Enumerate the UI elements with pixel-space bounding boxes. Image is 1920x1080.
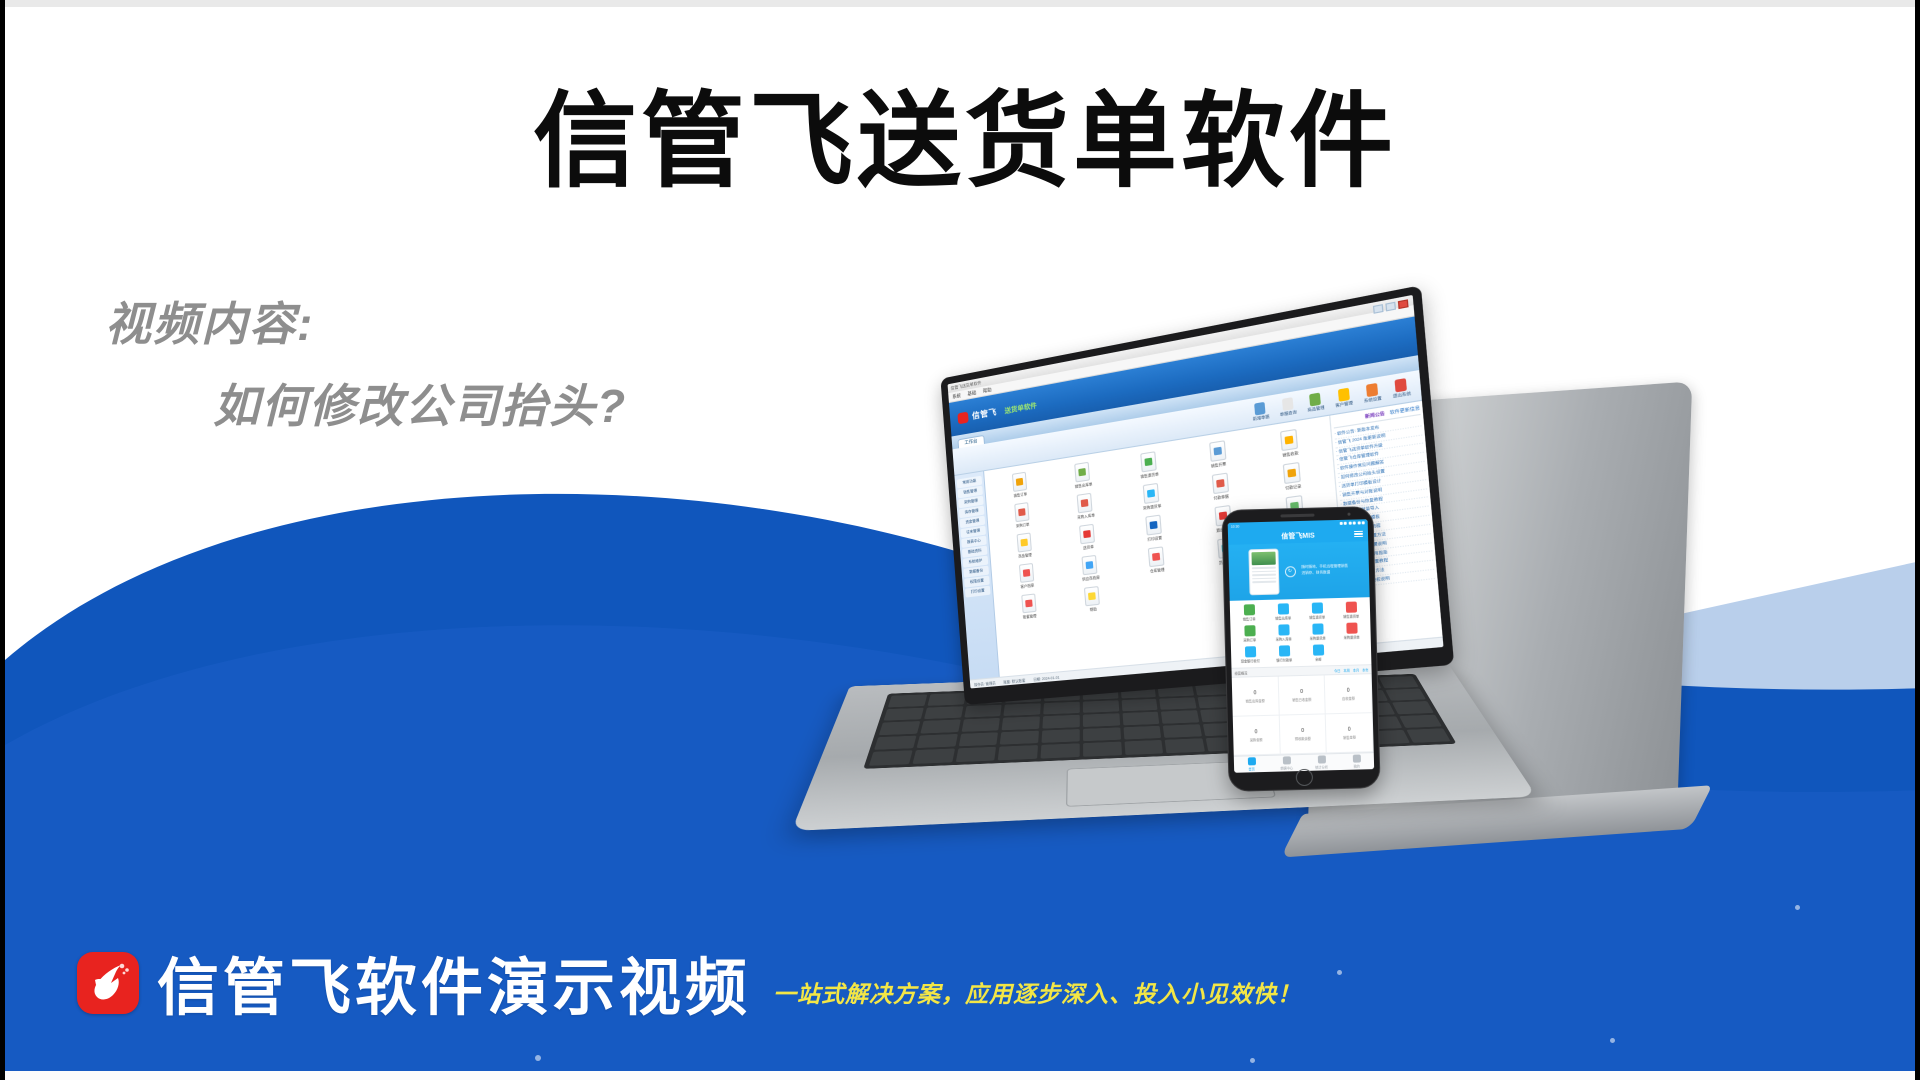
mobile-stat-label: 销售金额: [1343, 734, 1356, 739]
app-icon-glyph: [1079, 524, 1095, 545]
mobile-stat-value: 0: [1255, 729, 1258, 735]
hamburger-menu-icon[interactable]: [1354, 530, 1363, 537]
decorative-dot: [1610, 1038, 1615, 1043]
app-icon-glyph: [1021, 593, 1036, 613]
app-icon-tile[interactable]: 客户档案: [996, 560, 1057, 592]
app-icon-glyph: [1280, 429, 1298, 451]
app-icon-tile[interactable]: 付款单据: [1186, 469, 1255, 505]
mobile-app-title: 信管飞MIS: [1281, 530, 1315, 541]
app-icon-tile[interactable]: 账套管理: [999, 591, 1060, 622]
toolbar-button-new[interactable]: 新增单据: [1252, 401, 1270, 422]
battery-icon: [1362, 521, 1365, 524]
stats-period-selector[interactable]: 今日 本周 本月 本年: [1334, 667, 1369, 673]
app-icon-tile[interactable]: 销售开票: [1183, 436, 1252, 472]
app-icon-glyph: [1145, 515, 1162, 536]
app-icon-label: 账套管理: [1023, 613, 1037, 620]
phone-speaker: [1280, 514, 1314, 518]
wifi-icon: [1348, 522, 1351, 525]
document-icon: [1282, 756, 1290, 764]
decorative-dot: [1250, 1058, 1255, 1063]
mobile-icon-label: 销售退货单: [1309, 614, 1325, 619]
period-week[interactable]: 本周: [1343, 667, 1350, 672]
mobile-icon-glyph: [1243, 604, 1254, 615]
app-icon-glyph: [1077, 493, 1093, 514]
mobile-icon-label: 采购订单: [1243, 637, 1256, 642]
app-icon-label: 销售收款: [1282, 450, 1298, 458]
mobile-icon-grid: 销售订单销售出库单销售退货单销售退货单采购订单采购入库单采购退货单采购退货单现金…: [1230, 597, 1372, 668]
bluetooth-icon: [1339, 522, 1342, 525]
mobile-icon-label: 采购入库单: [1276, 636, 1292, 641]
mobile-icon-label: 全部: [1315, 656, 1322, 661]
period-year[interactable]: 本年: [1362, 667, 1369, 672]
app-icon-tile[interactable]: 销售订单: [989, 468, 1050, 501]
mobile-banner: ↻ 随时随地，手机远程管理销售进销存、财务数据: [1228, 541, 1369, 601]
mobile-icon-glyph: [1345, 602, 1356, 613]
mobile-icon-tile[interactable]: 销售出库单: [1266, 603, 1300, 621]
mobile-icon-label: 现金银行收付: [1241, 658, 1260, 663]
mobile-icon-label: 采购退货单: [1310, 635, 1326, 640]
mobile-icon-label: 销售退货单: [1343, 613, 1359, 618]
tab-updates[interactable]: 软件更新信息: [1389, 405, 1420, 417]
app-icon-tile[interactable]: 采购入库单: [1054, 489, 1118, 523]
app-icon-tile[interactable]: 销售收款: [1254, 425, 1326, 462]
app-icon-tile[interactable]: 帮助: [1061, 583, 1125, 615]
mobile-stat-cell: 0销售已收金额: [1278, 675, 1326, 715]
mobile-stat-cell: 0销售出库金额: [1232, 677, 1280, 717]
mobile-stat-label: 预收款余额: [1295, 735, 1311, 740]
mobile-icon-glyph: [1278, 624, 1289, 635]
app-icon-tile[interactable]: 仓库管理: [1123, 543, 1190, 576]
app-icon-glyph: [1140, 451, 1157, 472]
mobile-icon-label: 销售出库单: [1275, 615, 1291, 620]
mobile-icon-glyph: [1312, 644, 1323, 655]
app-header-subtitle: 送货单软件: [1004, 399, 1037, 415]
app-icon-glyph: [1209, 440, 1226, 462]
mobile-icon-tile[interactable]: 全部: [1301, 644, 1335, 662]
mobile-stat-value: 0: [1348, 726, 1351, 732]
app-icon-label: 帮助: [1090, 606, 1097, 612]
toolbar-button-customer[interactable]: 客户管理: [1334, 387, 1353, 409]
toolbar-label: 客户管理: [1335, 400, 1353, 408]
app-icon-glyph: [1016, 533, 1031, 553]
mobile-stat-cell: 0销售金额: [1326, 713, 1374, 753]
status-account-set: 账套: 默认账套: [1003, 677, 1025, 684]
laptop-keyboard-base: [791, 664, 1536, 831]
phone-status-icons: [1339, 521, 1365, 525]
app-icon-label: 商品管理: [1018, 552, 1032, 559]
app-icon-glyph: [1075, 462, 1091, 483]
mobile-stat-value: 0: [1347, 687, 1350, 693]
app-icon-tile[interactable]: 送货单: [1056, 520, 1120, 553]
app-icon-glyph: [1082, 555, 1098, 575]
mobile-stat-cell: 0应收金额: [1325, 674, 1373, 714]
period-today[interactable]: 今日: [1334, 667, 1341, 672]
mobile-icon-tile[interactable]: 采购订单: [1232, 625, 1266, 643]
person-icon: [1352, 754, 1360, 762]
alarm-icon: [1344, 522, 1347, 525]
app-icon-label: 仓库管理: [1150, 567, 1165, 574]
status-date: 日期: 2024-01-01: [1033, 674, 1060, 681]
menu-item-help[interactable]: 帮助: [983, 387, 992, 395]
mobile-icon-tile[interactable]: 销售退货单: [1334, 601, 1368, 619]
tab-home[interactable]: 首页: [1234, 756, 1269, 773]
app-logo-icon: [957, 411, 968, 424]
device-mockup-group: 信管飞送货单软件 系统 基础 帮助 信管飞 送货单软件 工作台: [885, 370, 1920, 910]
phone-device: 10:30 信管飞MIS: [1221, 506, 1380, 792]
app-icon-tile[interactable]: 采购订单: [992, 499, 1053, 532]
brand-name: 信管飞软件演示视频: [157, 958, 751, 1020]
app-icon-glyph: [1148, 546, 1165, 567]
menu-item-basic[interactable]: 基础: [967, 389, 976, 397]
toolbar-button-settings[interactable]: 系统设置: [1363, 382, 1382, 404]
mobile-icon-tile[interactable]: 采购退货单: [1334, 622, 1368, 640]
mobile-icon-tile[interactable]: 销售退货单: [1300, 602, 1334, 620]
mobile-stat-label: 采购金额: [1250, 737, 1263, 742]
home-icon: [1247, 757, 1255, 765]
chart-icon: [1317, 755, 1325, 763]
phone-clock: 10:30: [1231, 524, 1240, 528]
toolbar-button-query[interactable]: 单据查询: [1279, 396, 1297, 417]
app-icon-tile[interactable]: 商品管理: [994, 529, 1055, 561]
mobile-stat-value: 0: [1300, 688, 1303, 694]
signal-icon: [1353, 522, 1356, 525]
app-icon-label: 送货单: [1083, 544, 1094, 551]
app-icon-label: 销售开票: [1211, 461, 1227, 469]
mobile-icon-glyph: [1312, 623, 1323, 634]
app-icon-label: 采购退货单: [1143, 503, 1162, 511]
app-icon-glyph: [1084, 586, 1100, 606]
xinguanfei-bird-logo-icon: [77, 952, 139, 1014]
app-icon-label: 供应商档案: [1082, 574, 1100, 581]
signal2-icon: [1357, 521, 1360, 524]
decorative-dot: [1795, 905, 1800, 910]
banner-text: 随时随地，手机远程管理销售进销存、财务数据: [1301, 564, 1349, 577]
sync-arrow-icon: ↻: [1284, 566, 1295, 577]
stats-title: 经营概况: [1235, 670, 1248, 675]
bottom-edge-strip: [5, 1071, 1915, 1080]
mobile-icon-glyph: [1311, 602, 1322, 613]
mobile-icon-label: 销售订单: [1243, 616, 1256, 621]
mobile-icon-glyph: [1244, 625, 1255, 636]
menu-item-system[interactable]: 系统: [952, 392, 961, 400]
mobile-app-screen: 10:30 信管飞MIS: [1228, 519, 1374, 773]
toolbar-button-goods[interactable]: 商品管理: [1306, 391, 1325, 413]
mobile-icon-tile[interactable]: 银行付款单: [1267, 645, 1301, 663]
mobile-icon-label: 采购退货单: [1344, 634, 1360, 639]
banner-phone-illustration: [1248, 549, 1279, 596]
app-icon-label: 销售订单: [1013, 491, 1027, 498]
mobile-icon-glyph: [1277, 603, 1288, 614]
mobile-icon-glyph: [1346, 623, 1357, 634]
mobile-stat-label: 销售已收金额: [1292, 696, 1311, 701]
toolbar-button-exit[interactable]: 退出系统: [1391, 377, 1411, 399]
toolbar-label: 新增单据: [1253, 414, 1270, 422]
toolbar-label: 商品管理: [1307, 405, 1325, 413]
mobile-stat-cell: 0采购金额: [1233, 716, 1281, 756]
app-icon-glyph: [1012, 472, 1027, 492]
period-month[interactable]: 本月: [1353, 667, 1360, 672]
brand-tagline: 一站式解决方案，应用逐步深入、投入小见效快！: [773, 975, 1301, 1009]
app-icon-glyph: [1019, 563, 1034, 583]
top-edge-strip: [5, 0, 1915, 7]
mobile-icon-tile[interactable]: 现金银行收付: [1233, 646, 1267, 664]
app-icon-glyph: [1143, 483, 1160, 504]
mobile-stat-value: 0: [1301, 727, 1304, 733]
page-title: 信管飞送货单软件: [5, 56, 1920, 207]
app-header-brand: 信管飞: [972, 406, 997, 421]
toolbar-label: 系统设置: [1364, 395, 1382, 404]
mobile-icon-tile[interactable]: 采购退货单: [1300, 623, 1334, 641]
mobile-icon-tile[interactable]: 销售订单: [1232, 604, 1266, 622]
brand-bar: 信管飞软件演示视频 一站式解决方案，应用逐步深入、投入小见效快！: [77, 952, 1301, 1020]
video-content-label: 视频内容:: [105, 288, 314, 354]
mobile-icon-label: 银行付款单: [1276, 657, 1292, 662]
mobile-icon-glyph: [1278, 645, 1289, 656]
app-icon-tile[interactable]: 销售出库单: [1051, 458, 1114, 492]
tab-profile[interactable]: 我的: [1339, 753, 1374, 770]
app-icon-tile[interactable]: 付款记录: [1256, 458, 1328, 495]
app-icon-label: 采购订单: [1016, 521, 1030, 528]
mobile-stats-grid: 0销售出库金额0销售已收金额0应收金额0采购金额0预收款余额0销售金额: [1232, 674, 1374, 756]
app-icon-glyph: [1211, 473, 1228, 495]
app-icon-tile[interactable]: 销售退货单: [1116, 447, 1182, 482]
toolbar-label: 单据查询: [1280, 409, 1297, 417]
mobile-icon-glyph: [1244, 646, 1255, 657]
app-icon-label: 付款记录: [1285, 483, 1301, 491]
app-icon-label: 打印设置: [1147, 535, 1162, 542]
mobile-icon-tile[interactable]: 采购入库单: [1266, 624, 1300, 642]
app-icon-glyph: [1283, 462, 1301, 484]
app-icon-label: 付款单据: [1213, 493, 1229, 501]
slide-canvas: 信管飞送货单软件 系统 基础 帮助 信管飞 送货单软件 工作台: [0, 0, 1920, 1080]
mobile-stat-value: 0: [1253, 690, 1256, 696]
video-content-question: 如何修改公司抬头?: [213, 370, 627, 436]
app-icon-label: 采购入库单: [1077, 512, 1095, 520]
app-icon-tile[interactable]: 打印设置: [1121, 511, 1187, 545]
sidebar-item[interactable]: 打印设置: [965, 586, 991, 598]
mobile-stat-cell: 0预收款余额: [1279, 714, 1327, 754]
decorative-dot: [535, 1055, 541, 1061]
tab-analytics[interactable]: 统计分析: [1304, 754, 1339, 771]
phone-home-button[interactable]: [1296, 769, 1313, 786]
app-icon-glyph: [1014, 502, 1029, 522]
app-icon-tile[interactable]: 采购退货单: [1118, 479, 1184, 514]
mobile-stat-label: 应收金额: [1342, 695, 1355, 700]
phone-camera-icon: [1347, 513, 1350, 516]
app-icon-label: 客户档案: [1020, 582, 1034, 589]
decorative-dot: [1337, 970, 1342, 975]
mobile-stat-label: 销售出库金额: [1246, 697, 1265, 702]
app-icon-tile[interactable]: 供应商档案: [1059, 552, 1123, 584]
status-operator: 操作员: 管理员: [974, 680, 996, 687]
tab-news[interactable]: 新闻公告: [1365, 410, 1385, 420]
